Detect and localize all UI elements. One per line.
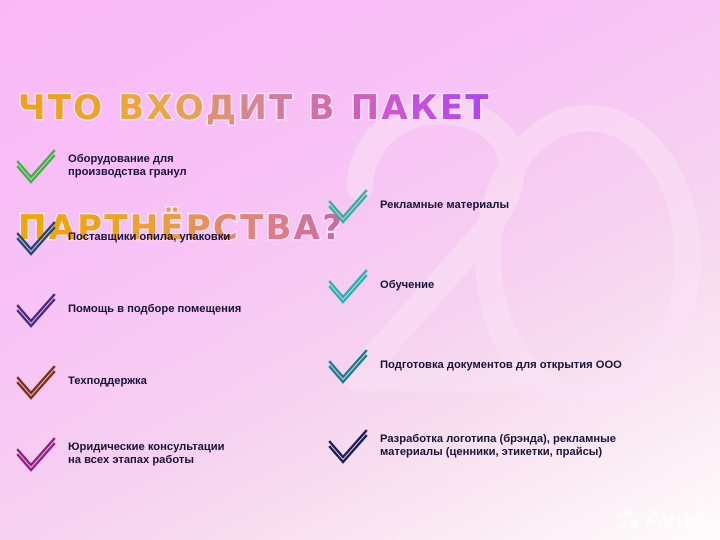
check-icon-green (14, 146, 58, 186)
list-item[interactable]: Юридические консультации на всех этапах … (14, 434, 314, 474)
title-letter: О (175, 88, 206, 128)
title-letter (337, 88, 351, 128)
list-item-label: Техподдержка (68, 375, 147, 389)
list-item[interactable]: Помощь в подборе помещения (14, 290, 314, 330)
list-item-label: Рекламные материалы (380, 199, 509, 213)
list-item-label: Юридические консультации на всех этапах … (68, 441, 225, 468)
title-letter: Д (206, 88, 238, 128)
title-letter: Ч (18, 88, 48, 128)
title-letter: Т (465, 88, 490, 128)
list-item[interactable]: Подготовка документов для открытия ООО (326, 346, 708, 386)
title-letter: А (381, 88, 410, 128)
poster-canvas: ЧТО ВХОДИТ В ПАКЕТ ПАРТНЁРСТВА? Оборудов… (0, 0, 720, 540)
title-letter: И (238, 88, 269, 128)
list-item[interactable]: Разработка логотипа (брэнда), рекламные … (326, 426, 708, 466)
right-checklist: Рекламные материалыОбучениеПодготовка до… (326, 186, 708, 466)
avito-dots-icon (616, 508, 640, 530)
title-letter: Х (146, 88, 174, 128)
list-item-label: Разработка логотипа (брэнда), рекламные … (380, 433, 616, 460)
list-item[interactable]: Техподдержка (14, 362, 314, 402)
list-item[interactable]: Поставщики опила, упаковки (14, 218, 314, 258)
check-icon-deep-teal (326, 346, 370, 386)
title-letter (294, 88, 308, 128)
check-icon-magenta (14, 434, 58, 474)
check-icon-turquoise (326, 266, 370, 306)
title-letter: В (309, 88, 337, 128)
list-item-label: Помощь в подборе помещения (68, 303, 241, 317)
title-letter: Е (440, 88, 465, 128)
avito-wordmark: Avito (644, 506, 706, 532)
title-letter: Т (48, 88, 73, 128)
list-item[interactable]: Обучение (326, 266, 708, 306)
title-letter (104, 88, 118, 128)
list-item[interactable]: Оборудование для производства гранул (14, 146, 314, 186)
title-line-1: ЧТО ВХОДИТ В ПАКЕТ (18, 88, 708, 128)
title-letter: Т (269, 88, 294, 128)
list-item-label: Подготовка документов для открытия ООО (380, 359, 622, 373)
list-item-label: Оборудование для производства гранул (68, 153, 187, 180)
list-item-label: Поставщики опила, упаковки (68, 231, 230, 245)
avito-watermark: Avito (616, 506, 706, 532)
check-icon-brown (14, 362, 58, 402)
check-icon-teal (326, 186, 370, 226)
check-icon-navy (14, 218, 58, 258)
title-letter: К (410, 88, 440, 128)
check-icon-purple (14, 290, 58, 330)
check-icon-dark-navy (326, 426, 370, 466)
title-letter: О (73, 88, 104, 128)
list-item[interactable]: Рекламные материалы (326, 186, 708, 226)
left-checklist: Оборудование для производства гранулПост… (14, 146, 314, 474)
title-letter: В (118, 88, 146, 128)
title-letter: П (351, 88, 382, 128)
list-item-label: Обучение (380, 279, 434, 293)
